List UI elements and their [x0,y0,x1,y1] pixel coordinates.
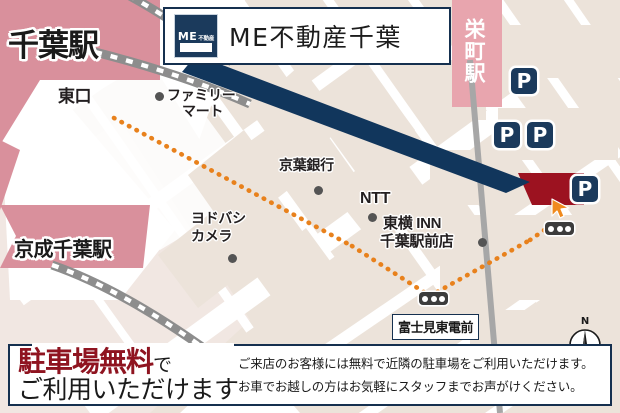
banner-note-line1: ご来店のお客様には無料で近隣の駐車場をご利用いただけます。 [238,352,610,375]
station-label-keisei-chiba: 京成千葉駅 [14,233,112,262]
parking-marker-2[interactable]: P [494,122,520,148]
parking-marker-1[interactable]: P [511,68,537,94]
compass-north-label: N [568,316,602,327]
banner-headline: 駐車場無料で ご利用いただけます [10,347,238,403]
parking-marker-3[interactable]: P [527,122,553,148]
traffic-signal-icon-2 [419,292,448,305]
me-logo-mark-bar [180,43,212,52]
parking-notice-banner: 駐車場無料で ご利用いただけます ご来店のお客様には無料で近隣の駐車場をご利用い… [8,344,612,406]
company-name: ME不動産千葉 [229,18,402,54]
company-logo-plate: ME不動産 ME不動産千葉 [163,7,451,65]
station-exit-higashiguchi: 東口 [58,88,91,106]
banner-headline-highlight: 駐車場無料 [18,345,153,378]
me-logo-mark-text: ME不動産 [178,30,214,43]
banner-headline-tail: で [153,354,172,376]
cursor-arrow-icon [551,198,571,225]
parking-marker-4[interactable]: P [572,176,598,202]
banner-note: ご来店のお客様には無料で近隣の駐車場をご利用いただけます。 お車でお越しの方はお… [238,352,610,398]
me-logo-mark: ME不動産 [174,14,218,58]
intersection-label-fujimihigashidenmae: 富士見東電前 [392,314,479,340]
banner-headline-line2: ご利用いただけます [18,376,238,403]
map-flyer: 千葉駅 京成千葉駅 栄町駅 東口 ファミリー マート 京葉銀行 ヨドバシ カメラ… [0,0,620,413]
station-label-chiba: 千葉駅 [8,20,98,65]
banner-note-line2: お車でお越しの方はお気軽にスタッフまでお声がけください。 [238,375,610,398]
station-label-sakaecho: 栄町駅 [463,18,484,84]
